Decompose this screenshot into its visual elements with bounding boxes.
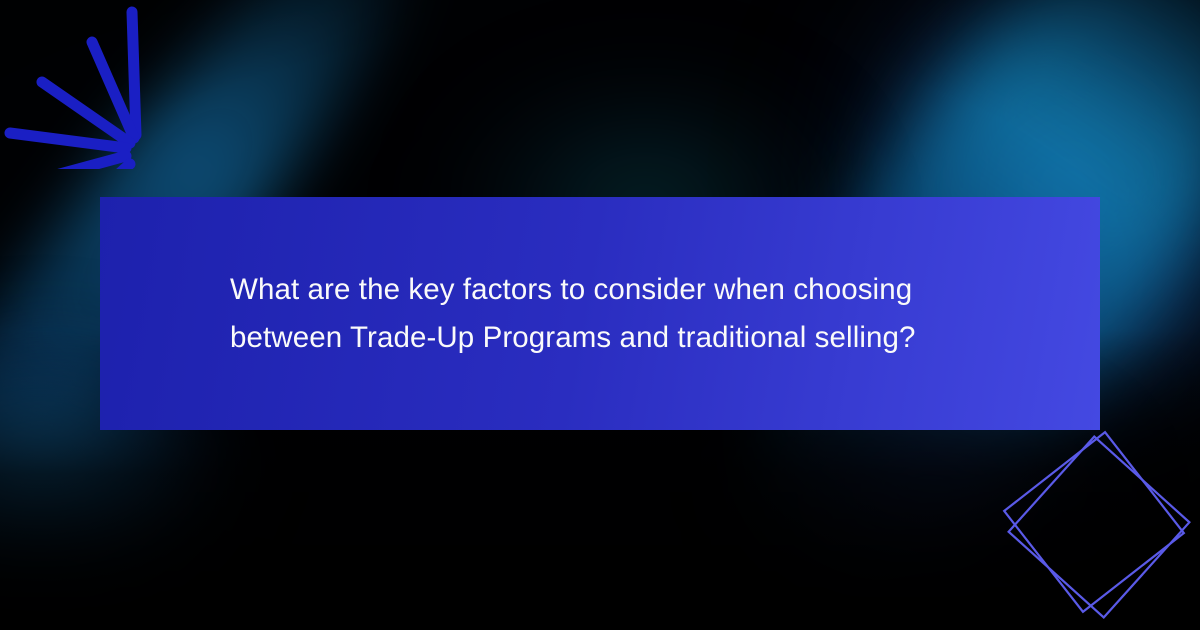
headline-banner: What are the key factors to consider whe… <box>100 197 1100 430</box>
headline-text: What are the key factors to consider whe… <box>230 266 990 362</box>
share-card-canvas: What are the key factors to consider whe… <box>0 0 1200 630</box>
